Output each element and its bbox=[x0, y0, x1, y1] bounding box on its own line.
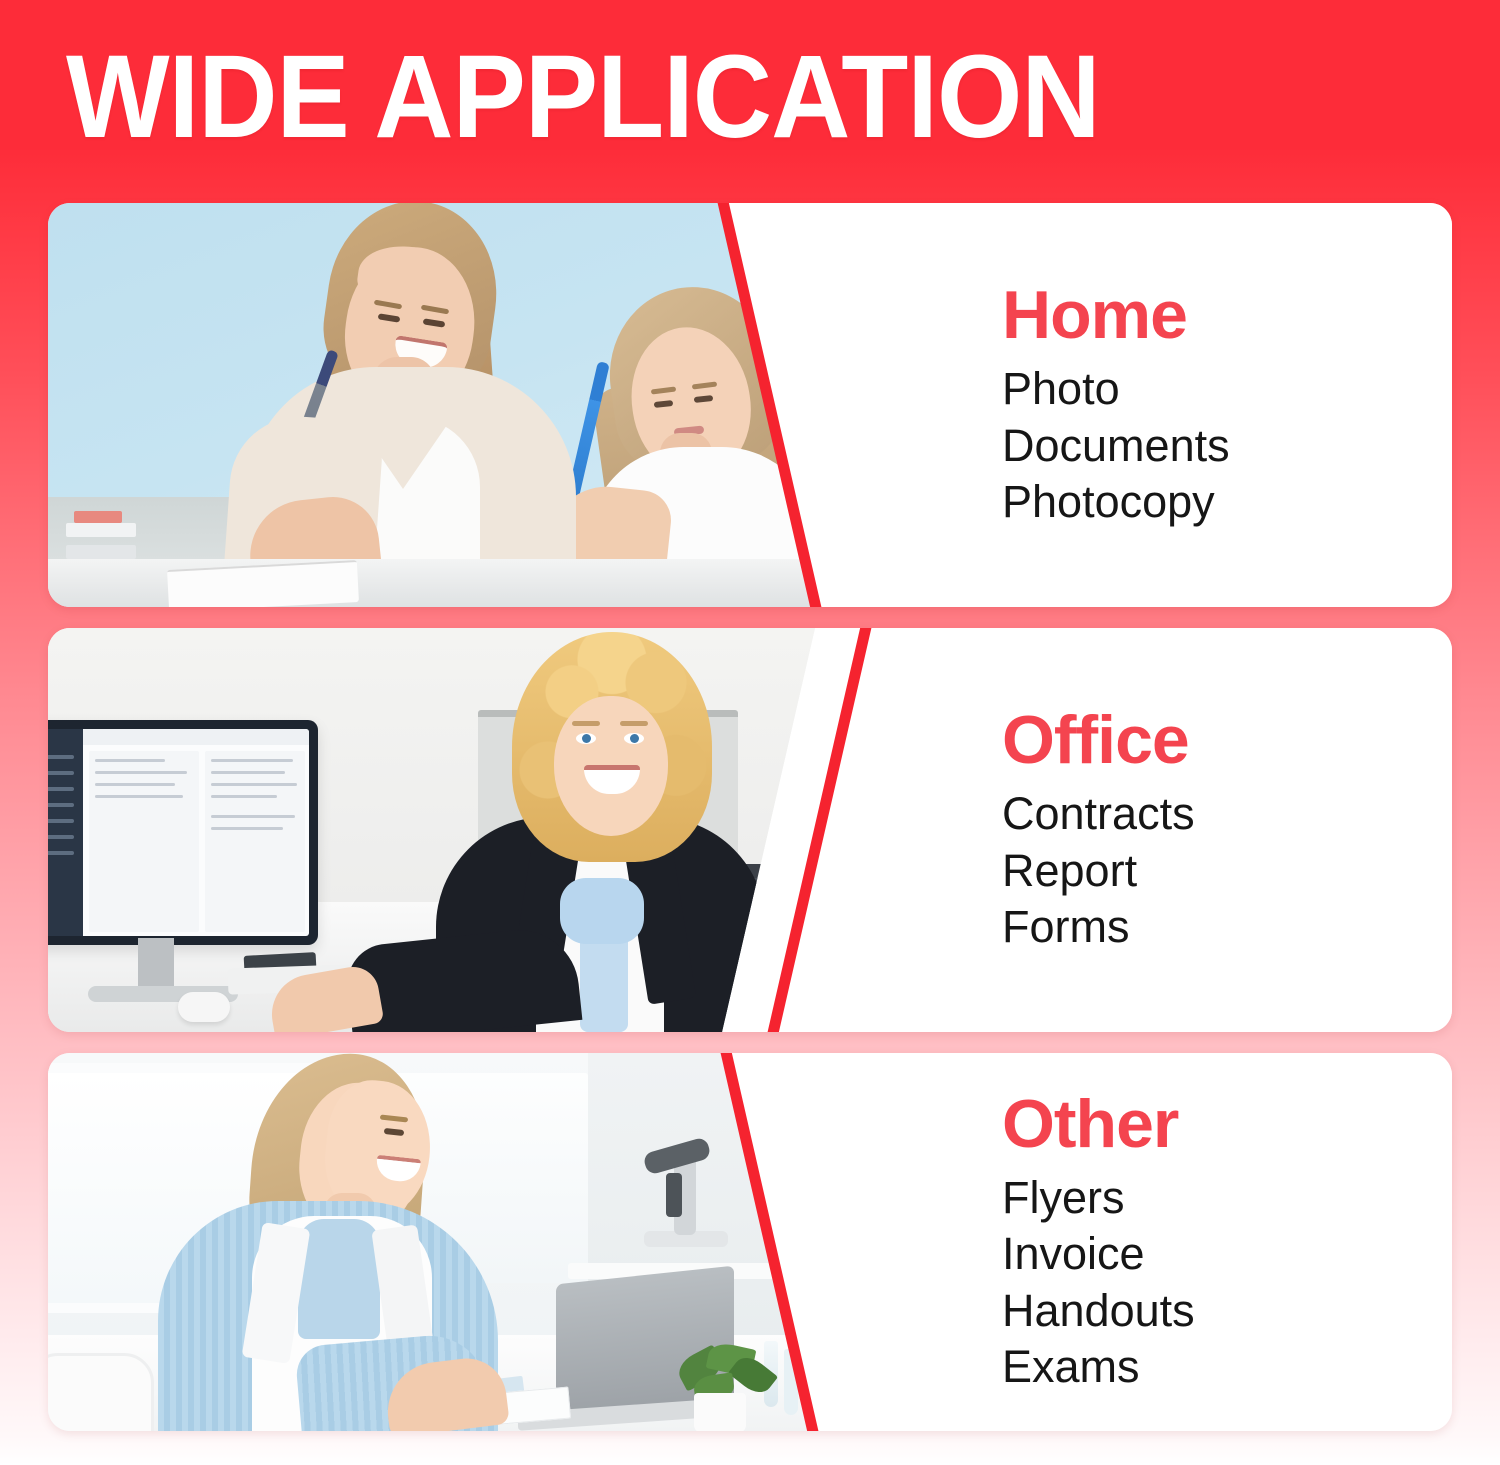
photo-other bbox=[48, 1053, 878, 1431]
text-panel-office: Office Contracts Report Forms bbox=[878, 628, 1452, 1032]
list-item: Invoice bbox=[1002, 1226, 1452, 1282]
list-item: Flyers bbox=[1002, 1170, 1452, 1226]
application-card-home: Home Photo Documents Photocopy bbox=[48, 203, 1452, 607]
list-item: Photocopy bbox=[1002, 474, 1452, 530]
header-banner: WIDE APPLICATION bbox=[0, 0, 1500, 195]
card-item-list-other: Flyers Invoice Handouts Exams bbox=[1002, 1170, 1452, 1395]
card-heading-home: Home bbox=[1002, 280, 1452, 351]
list-item: Handouts bbox=[1002, 1283, 1452, 1339]
scene-office-illustration bbox=[48, 628, 878, 1032]
card-item-list-office: Contracts Report Forms bbox=[1002, 786, 1452, 955]
application-card-other: Other Flyers Invoice Handouts Exams bbox=[48, 1053, 1452, 1431]
scene-lab-illustration bbox=[48, 1053, 878, 1431]
list-item: Photo bbox=[1002, 361, 1452, 417]
list-item: Documents bbox=[1002, 418, 1452, 474]
scene-home-illustration bbox=[48, 203, 878, 607]
photo-home bbox=[48, 203, 878, 607]
card-item-list-home: Photo Documents Photocopy bbox=[1002, 361, 1452, 530]
list-item: Contracts bbox=[1002, 786, 1452, 842]
list-item: Report bbox=[1002, 843, 1452, 899]
card-heading-office: Office bbox=[1002, 705, 1452, 776]
card-heading-other: Other bbox=[1002, 1089, 1452, 1160]
photo-office bbox=[48, 628, 878, 1032]
text-panel-other: Other Flyers Invoice Handouts Exams bbox=[878, 1053, 1452, 1431]
list-item: Exams bbox=[1002, 1339, 1452, 1395]
page-title: WIDE APPLICATION bbox=[66, 38, 1100, 156]
list-item: Forms bbox=[1002, 899, 1452, 955]
infographic-canvas: WIDE APPLICATION bbox=[0, 0, 1500, 1465]
application-card-office: Office Contracts Report Forms bbox=[48, 628, 1452, 1032]
text-panel-home: Home Photo Documents Photocopy bbox=[878, 203, 1452, 607]
